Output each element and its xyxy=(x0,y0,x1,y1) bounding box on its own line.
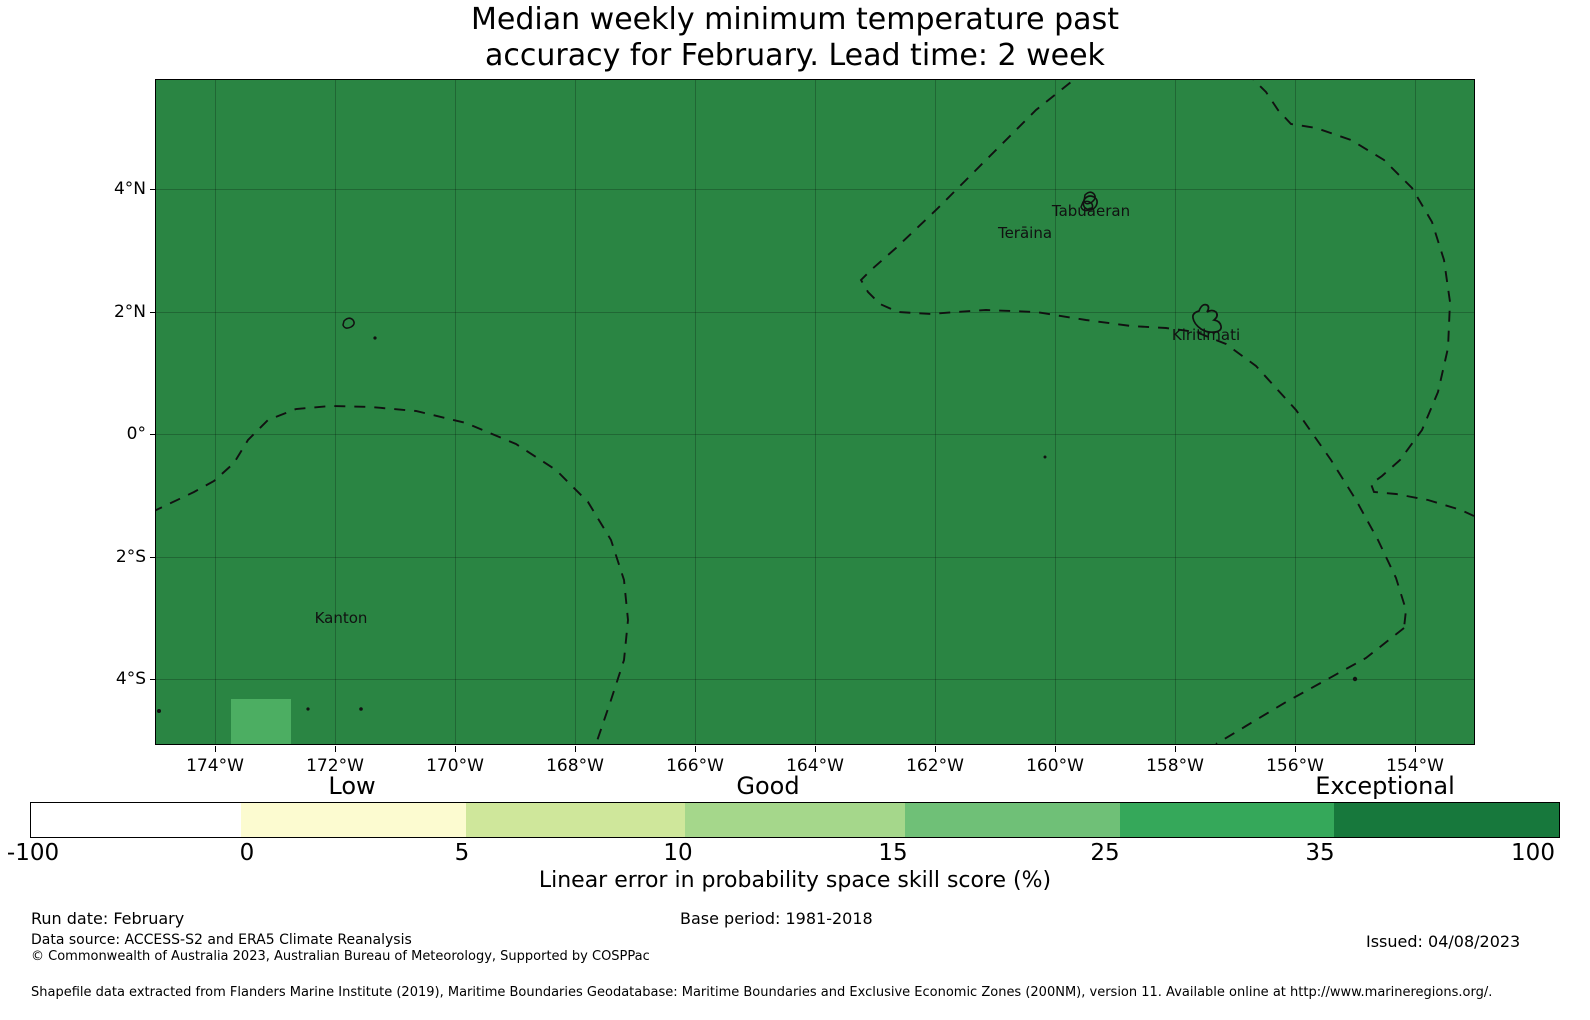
colorbar-axis-title: Linear error in probability space skill … xyxy=(0,868,1590,893)
colorbar-tick-5: 5 xyxy=(455,840,470,866)
page-title: Median weekly minimum temperature past a… xyxy=(0,2,1590,74)
xtick-mark-174w xyxy=(215,746,216,752)
place-label-teraina: Terāina xyxy=(998,224,1052,242)
colorbar-segment-25-35[interactable] xyxy=(1120,803,1335,837)
xtick-mark-160w xyxy=(1055,746,1056,752)
xtick-label-170w: 170°W xyxy=(426,756,484,776)
colorbar-segment-35-100[interactable] xyxy=(1334,803,1559,837)
colorbar-segment--100-0[interactable] xyxy=(31,803,241,837)
colorbar-tick--100: -100 xyxy=(7,840,59,866)
map-panel[interactable]: Terāina Tabuaeran Kiritimati Kanton xyxy=(155,79,1475,745)
footer-base-period: Base period: 1981-2018 xyxy=(680,909,873,928)
xtick-mark-156w xyxy=(1295,746,1296,752)
colorbar-tick-35: 35 xyxy=(1305,840,1334,866)
islet-dot-6 xyxy=(157,709,161,713)
colorbar-segment-15-25[interactable] xyxy=(905,803,1120,837)
xtick-label-166w: 166°W xyxy=(666,756,724,776)
xtick-label-174w: 174°W xyxy=(186,756,244,776)
colorbar[interactable] xyxy=(30,802,1560,838)
colorbar-tick-15: 15 xyxy=(878,840,907,866)
ytick-label-4n: 4°N xyxy=(88,179,146,199)
colorbar-tick-25: 25 xyxy=(1090,840,1119,866)
xtick-mark-164w xyxy=(815,746,816,752)
colorbar-qual-label-low: Low xyxy=(328,772,375,800)
ytick-label-2n: 2°N xyxy=(88,302,146,322)
footer-data-source: Data source: ACCESS-S2 and ERA5 Climate … xyxy=(31,932,412,948)
colorbar-tick-10: 10 xyxy=(663,840,692,866)
xtick-mark-158w xyxy=(1175,746,1176,752)
colorbar-tick-100: 100 xyxy=(1511,840,1555,866)
xtick-mark-172w xyxy=(335,746,336,752)
map-raster: Terāina Tabuaeran Kiritimati Kanton xyxy=(156,80,1474,744)
place-label-kanton: Kanton xyxy=(315,609,368,627)
islet-dot-4 xyxy=(1044,456,1047,459)
colorbar-qual-label-exceptional: Exceptional xyxy=(1315,772,1455,800)
island-kanton xyxy=(343,318,354,328)
ytick-label-0: 0° xyxy=(88,424,146,444)
xtick-mark-166w xyxy=(695,746,696,752)
ytick-label-2s: 2°S xyxy=(88,547,146,567)
colorbar-segment-5-10[interactable] xyxy=(466,803,686,837)
ytick-mark-4n xyxy=(150,189,156,190)
colorbar-segment-10-15[interactable] xyxy=(685,803,905,837)
colorbar-segment-0-5[interactable] xyxy=(241,803,466,837)
xtick-label-160w: 160°W xyxy=(1026,756,1084,776)
ytick-mark-2s xyxy=(150,557,156,558)
xtick-label-162w: 162°W xyxy=(906,756,964,776)
islet-dot-2 xyxy=(359,707,363,711)
xtick-mark-170w xyxy=(455,746,456,752)
xtick-mark-168w xyxy=(575,746,576,752)
colorbar-tick-0: 0 xyxy=(240,840,255,866)
place-label-tabuaeran: Tabuaeran xyxy=(1052,202,1130,220)
ytick-mark-2n xyxy=(150,312,156,313)
colorbar-qual-label-good: Good xyxy=(736,772,799,800)
islet-dot-1 xyxy=(373,336,376,339)
footer-shapefile-attribution: Shapefile data extracted from Flanders M… xyxy=(31,985,1492,1000)
eez-boundary-layer xyxy=(156,80,1474,744)
footer-run-date: Run date: February xyxy=(31,909,184,928)
ytick-mark-4s xyxy=(150,679,156,680)
place-label-kiritimati: Kiritimati xyxy=(1172,326,1240,344)
ytick-mark-0 xyxy=(150,434,156,435)
islet-dot-5 xyxy=(1353,677,1357,681)
footer-copyright: © Commonwealth of Australia 2023, Austra… xyxy=(31,949,650,964)
islet-dot-3 xyxy=(306,707,309,710)
figure-root: Median weekly minimum temperature past a… xyxy=(0,0,1590,1020)
footer-issued: Issued: 04/08/2023 xyxy=(1366,932,1520,951)
xtick-label-168w: 168°W xyxy=(546,756,604,776)
xtick-mark-162w xyxy=(935,746,936,752)
ytick-label-4s: 4°S xyxy=(88,669,146,689)
xtick-label-158w: 158°W xyxy=(1146,756,1204,776)
xtick-mark-154w xyxy=(1415,746,1416,752)
